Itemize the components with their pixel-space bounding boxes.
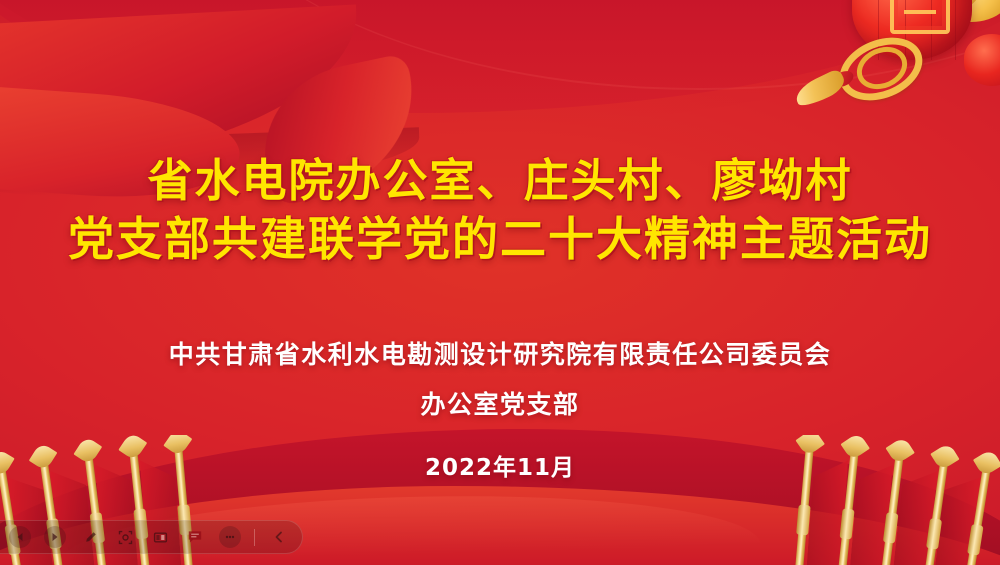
title-line-1: 省水电院办公室、庄头村、廖坳村: [0, 152, 1000, 210]
subtitle-line-1: 中共甘肃省水利水电勘测设计研究院有限责任公司委员会: [0, 342, 1000, 367]
zoom-frame-icon: [118, 530, 133, 545]
title-line-2: 党支部共建联学党的二十大精神主题活动: [0, 210, 1000, 269]
play-triangle-icon: [49, 531, 61, 543]
slide-content: 省水电院办公室、庄头村、廖坳村 党支部共建联学党的二十大精神主题活动 中共甘肃省…: [0, 0, 1000, 482]
previous-slide-button[interactable]: [9, 526, 31, 548]
previous-triangle-icon: [14, 531, 26, 543]
slide-grid-icon: [153, 530, 168, 545]
comments-button[interactable]: [184, 526, 206, 548]
chevron-left-icon: [272, 530, 286, 544]
more-options-button[interactable]: [219, 526, 241, 548]
pen-tool-button[interactable]: [79, 526, 101, 548]
subtitle-line-2: 办公室党支部: [0, 392, 1000, 417]
presentation-toolbar[interactable]: [0, 520, 303, 554]
slide-title: 省水电院办公室、庄头村、廖坳村 党支部共建联学党的二十大精神主题活动: [0, 152, 1000, 268]
ellipsis-icon: [223, 530, 237, 544]
comment-bubble-icon: [187, 529, 203, 545]
presentation-slide: 省水电院办公室、庄头村、廖坳村 党支部共建联学党的二十大精神主题活动 中共甘肃省…: [0, 0, 1000, 565]
toolbar-divider: [254, 529, 255, 546]
pen-icon: [83, 530, 98, 545]
slide-date: 2022年11月: [0, 448, 1000, 482]
zoom-region-button[interactable]: [114, 526, 136, 548]
slide-view-button[interactable]: [149, 526, 171, 548]
next-slide-button[interactable]: [44, 526, 66, 548]
collapse-toolbar-button[interactable]: [268, 526, 290, 548]
slide-subtitle: 中共甘肃省水利水电勘测设计研究院有限责任公司委员会 办公室党支部 2022年11…: [0, 342, 1000, 482]
